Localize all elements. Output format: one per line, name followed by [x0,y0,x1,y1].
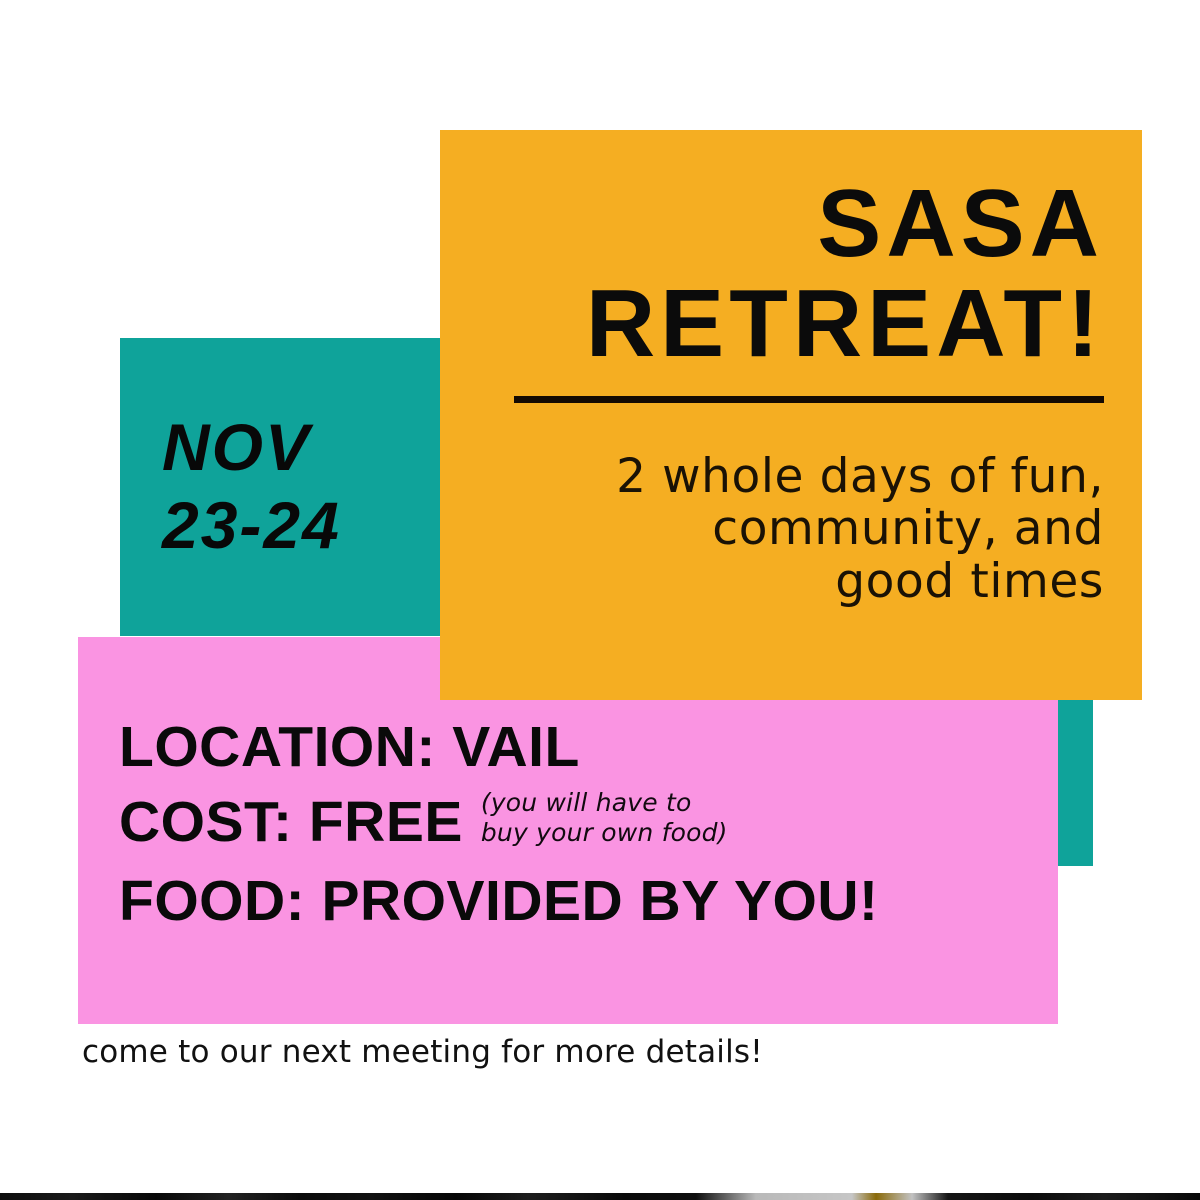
date-card-content: NOV 23-24 [120,338,442,636]
subtitle-line-3: good times [478,556,1104,609]
food-text: FOOD: PROVIDED BY YOU! [119,873,879,930]
detail-row-location: LOCATION: VAIL [119,719,1058,776]
subtitle-line-2: community, and [478,503,1104,556]
subtitle-line-1: 2 whole days of fun, [478,451,1104,504]
detail-row-food: FOOD: PROVIDED BY YOU! [119,873,1058,930]
title-line-1: SASA [478,174,1104,274]
title-subtitle: 2 whole days of fun, community, and good… [478,451,1104,609]
date-days: 23-24 [162,487,442,565]
title-card: SASA RETREAT! 2 whole days of fun, commu… [440,130,1142,700]
cost-note-line-2: buy your own food) [481,818,728,848]
title-card-content: SASA RETREAT! 2 whole days of fun, commu… [440,130,1142,700]
date-month: NOV [162,409,442,487]
date-card: NOV 23-24 [120,338,442,636]
detail-row-cost: COST: FREE (you will have to buy your ow… [119,794,1058,851]
title-line-2: RETREAT! [478,274,1104,374]
cost-text: COST: FREE [119,794,463,851]
cost-note-line-1: (you will have to [481,788,728,818]
footer-note: come to our next meeting for more detail… [82,1034,763,1070]
cost-note: (you will have to buy your own food) [481,788,728,848]
title-divider [514,396,1104,403]
teal-accent-strip [1055,700,1093,866]
poster-canvas: NOV 23-24 LOCATION: VAIL COST: FREE (you… [0,0,1200,1200]
bottom-edge-sliver [0,1193,1200,1200]
location-text: LOCATION: VAIL [119,719,580,776]
